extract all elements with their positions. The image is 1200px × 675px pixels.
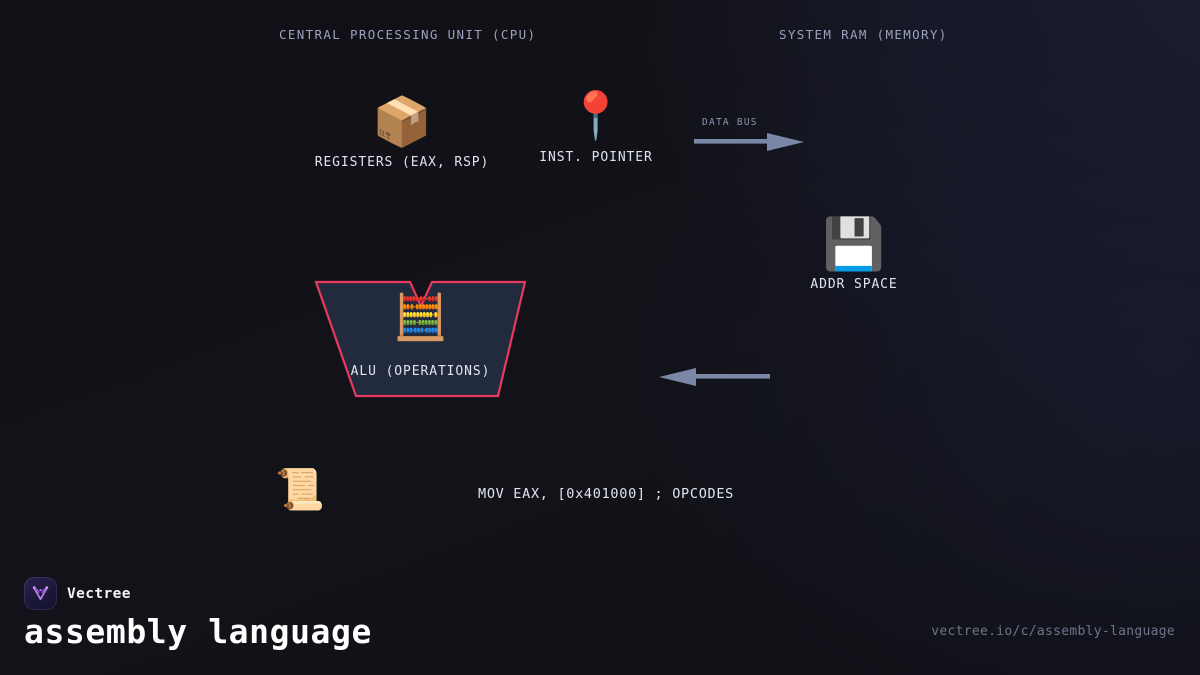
vectree-logo-icon: [24, 577, 57, 610]
pushpin-icon: 📍: [567, 92, 624, 138]
floppy-disk-icon: 💾: [823, 219, 885, 269]
diagram-canvas: CENTRAL PROCESSING UNIT (CPU) SYSTEM RAM…: [0, 0, 1200, 675]
arrow-right-icon: [694, 131, 806, 153]
brand-name: Vectree: [67, 586, 131, 602]
package-box-icon: 📦: [372, 98, 432, 146]
node-registers: 📦 REGISTERS (EAX, RSP): [315, 98, 490, 170]
node-addr-space-label: ADDR SPACE: [810, 277, 897, 292]
bus-data: DATA BUS: [694, 131, 806, 153]
section-header-ram: SYSTEM RAM (MEMORY): [779, 27, 948, 42]
node-instruction-pointer: 📍 INST. POINTER: [539, 92, 652, 165]
page-title: assembly language: [24, 612, 372, 651]
page-url: vectree.io/c/assembly-language: [931, 624, 1175, 639]
abacus-icon: 🧮: [313, 296, 528, 340]
code-instruction-text: MOV EAX, [0x401000] ; OPCODES: [478, 486, 734, 502]
node-instruction-pointer-label: INST. POINTER: [539, 150, 652, 165]
bus-data-label: DATA BUS: [702, 117, 758, 128]
scroll-icon: 📜: [275, 470, 325, 510]
bus-control: [657, 366, 771, 388]
arrow-left-icon: [657, 366, 771, 388]
alu-label: ALU (OPERATIONS): [313, 364, 528, 379]
alu-block: 🧮 ALU (OPERATIONS): [313, 276, 528, 402]
node-addr-space: 💾 ADDR SPACE: [810, 219, 897, 292]
node-registers-label: REGISTERS (EAX, RSP): [315, 155, 490, 170]
section-header-cpu: CENTRAL PROCESSING UNIT (CPU): [279, 27, 536, 42]
brand-row: Vectree: [24, 577, 131, 610]
